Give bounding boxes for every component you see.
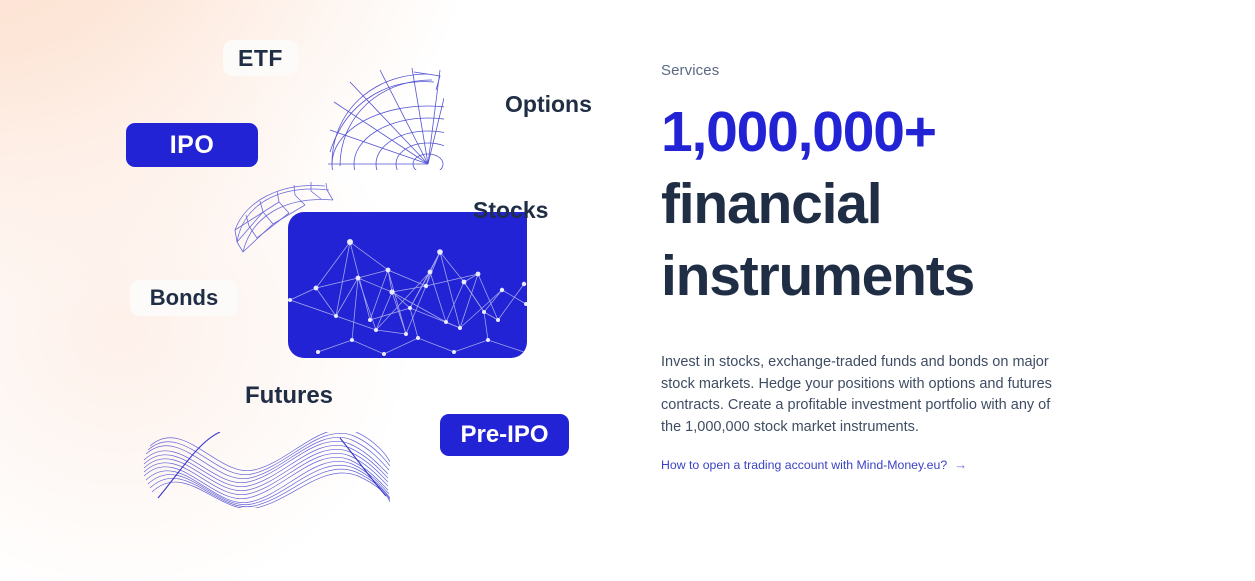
label-options[interactable]: Options bbox=[505, 88, 601, 120]
eyebrow-label: Services bbox=[661, 62, 719, 79]
label-ipo[interactable]: IPO bbox=[126, 123, 258, 167]
label-bonds[interactable]: Bonds bbox=[130, 280, 238, 316]
open-account-link[interactable]: How to open a trading account with Mind-… bbox=[661, 457, 967, 472]
label-futures[interactable]: Futures bbox=[245, 380, 349, 412]
network-card bbox=[288, 212, 527, 358]
network-graph-icon bbox=[288, 212, 527, 358]
headline-line-2: financial bbox=[661, 168, 1131, 240]
cta-link-label: How to open a trading account with Mind-… bbox=[661, 458, 947, 472]
globe-wireframe-icon bbox=[328, 68, 444, 170]
headline-number: 1,000,000+ bbox=[661, 96, 1131, 168]
headline-line-3: instruments bbox=[661, 240, 1131, 312]
hero-section: ETF IPO Options Stocks Bonds Futures Pre… bbox=[0, 0, 1255, 581]
arrow-right-icon: → bbox=[954, 457, 967, 472]
wave-lines-icon bbox=[140, 432, 390, 508]
label-stocks[interactable]: Stocks bbox=[473, 195, 559, 225]
label-etf[interactable]: ETF bbox=[223, 40, 298, 76]
body-paragraph: Invest in stocks, exchange-traded funds … bbox=[661, 352, 1073, 438]
hero-content: Services 1,000,000+ financial instrument… bbox=[661, 0, 1221, 581]
instruments-illustration: ETF IPO Options Stocks Bonds Futures Pre… bbox=[0, 0, 640, 581]
page-title: 1,000,000+ financial instruments bbox=[661, 96, 1131, 312]
label-pre-ipo[interactable]: Pre-IPO bbox=[440, 414, 569, 456]
